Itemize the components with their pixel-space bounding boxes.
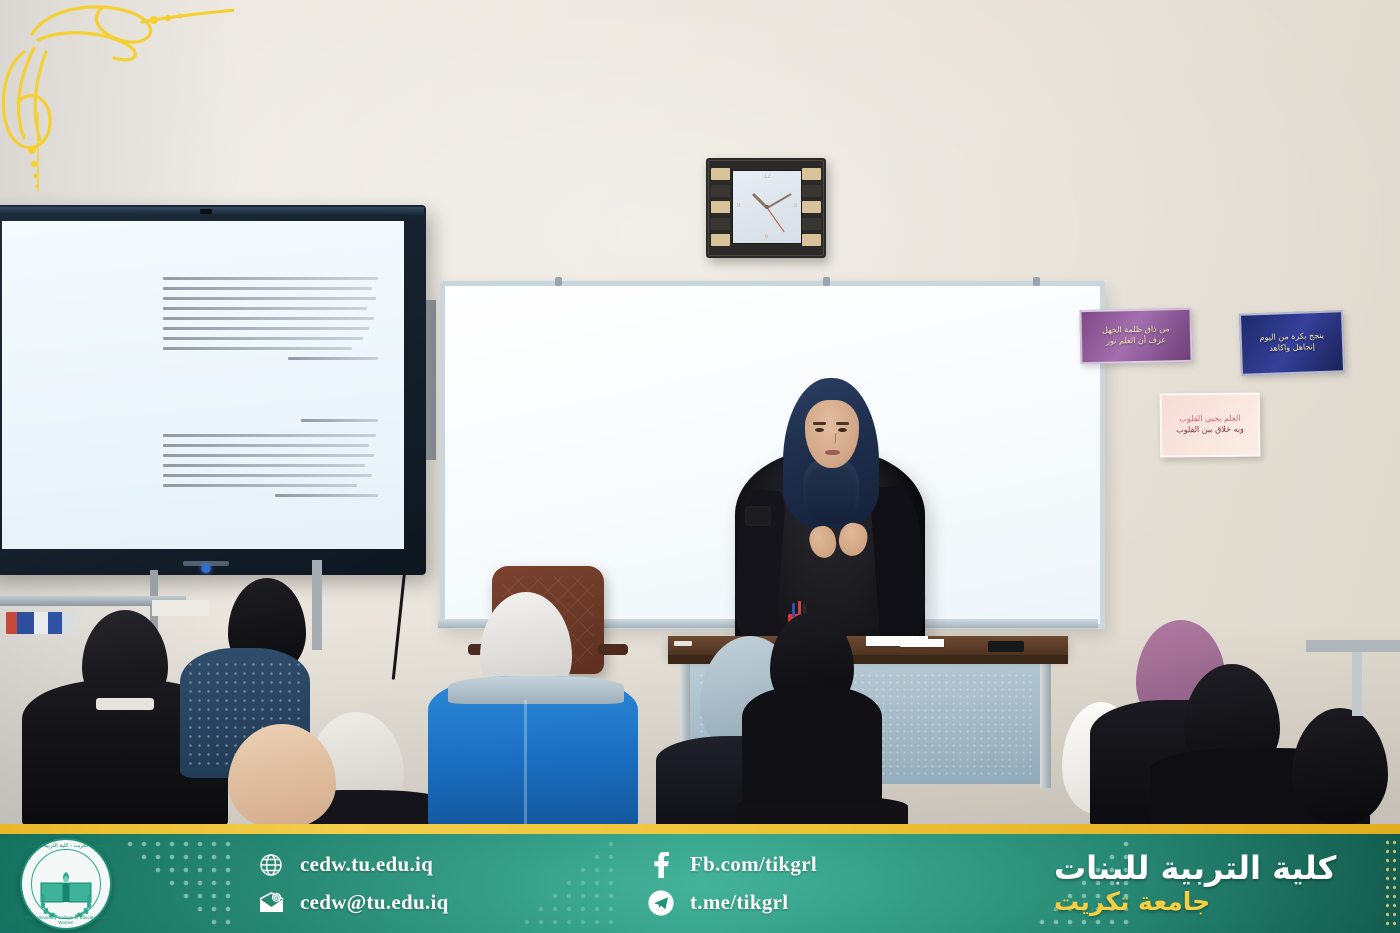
poster-pink-line1: العلم يحيي القلوب — [1176, 414, 1244, 426]
chair-arm-right — [598, 644, 628, 655]
document-paragraph-1 — [163, 277, 378, 367]
clock-minute-hand — [767, 193, 792, 209]
display-stand-right — [312, 560, 322, 650]
display-screen — [2, 221, 404, 549]
telegram-icon — [648, 890, 674, 916]
desk-eraser — [674, 641, 692, 646]
desk-paper-2 — [900, 639, 944, 647]
display-power-led — [202, 564, 211, 573]
telegram-text: t.me/tikgrl — [690, 890, 788, 915]
document-paragraph-2 — [163, 419, 378, 504]
seal-book-torch-wreath-icon — [37, 872, 95, 918]
contact-email[interactable]: @ cedw@tu.edu.iq — [258, 890, 449, 916]
contacts-column-social: Fb.com/tikgrl t.me/tikgrl — [648, 834, 817, 933]
seal-arabic-text: جامعة تكريت - كلية التربية للبنات — [20, 843, 112, 849]
clock-second-hand — [767, 207, 785, 232]
clock-face: 12 3 6 9 — [732, 170, 802, 244]
brand-college-name: كلية التربية للبنات — [1054, 851, 1336, 886]
interactive-display — [0, 205, 426, 575]
chair-rail-right — [1306, 640, 1400, 652]
svg-text:@: @ — [273, 894, 280, 902]
desk-leg-right — [1040, 656, 1051, 788]
university-seal: جامعة تكريت - كلية التربية للبنات Tikrit… — [20, 838, 112, 930]
book-stack — [6, 612, 74, 634]
gold-divider — [0, 824, 1400, 834]
clock-left-blocks — [711, 168, 730, 246]
facebook-icon — [648, 852, 674, 878]
dot-pattern-edge — [1384, 838, 1396, 930]
clock-right-blocks — [802, 168, 821, 246]
wall-poster-pink: العلم يحيي القلوب وبه خلاق بين القلوب — [1160, 392, 1261, 457]
contact-telegram[interactable]: t.me/tikgrl — [648, 890, 817, 916]
website-text: cedw.tu.edu.iq — [300, 852, 433, 877]
facebook-text: Fb.com/tikgrl — [690, 852, 817, 877]
brand-university-name: جامعة تكريت — [1054, 888, 1210, 916]
screenshot-root: 12 3 6 9 — [0, 0, 1400, 933]
contacts-column-web: cedw.tu.edu.iq @ cedw@tu.edu.iq — [258, 834, 449, 933]
globe-icon — [258, 852, 284, 878]
contact-website[interactable]: cedw.tu.edu.iq — [258, 852, 449, 878]
classroom-photo: 12 3 6 9 — [0, 0, 1400, 824]
email-text: cedw@tu.edu.iq — [300, 890, 449, 915]
instructor-shoulder-device — [745, 506, 771, 526]
poster-blue-line2: إنجاهل واكاهد — [1260, 342, 1325, 355]
poster-pink-line2: وبه خلاق بين القلوب — [1176, 425, 1244, 437]
shelf-papers — [152, 600, 210, 616]
chair-post-right — [1352, 652, 1362, 716]
envelope-icon: @ — [258, 890, 284, 916]
display-camera-icon — [200, 209, 212, 214]
contact-facebook[interactable]: Fb.com/tikgrl — [648, 852, 817, 878]
wall-clock: 12 3 6 9 — [706, 158, 826, 258]
wall-poster-purple: من ذاق ظلمة الجهل عرف أن العلم نور — [1079, 308, 1192, 364]
brand-block: كلية التربية للبنات جامعة تكريت — [1054, 836, 1384, 931]
poster-purple-line2: عرف أن العلم نور — [1102, 335, 1170, 347]
wall-poster-blue: ينجح بكرة من اليوم إنجاهل واكاهد — [1239, 310, 1345, 376]
mobile-phone — [988, 641, 1024, 652]
